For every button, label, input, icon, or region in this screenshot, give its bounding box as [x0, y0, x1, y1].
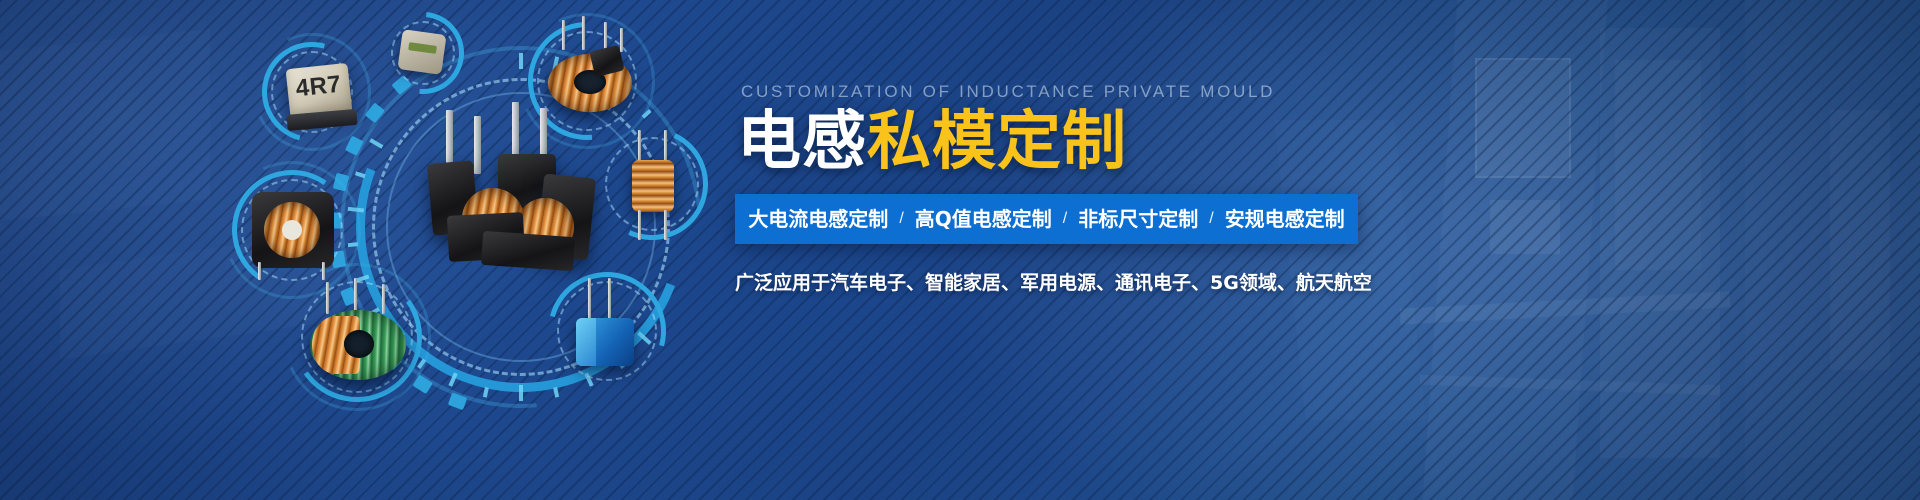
feature-item-4[interactable]: 安规电感定制 [1225, 209, 1345, 229]
promo-banner: 4R7 [0, 0, 1920, 500]
headline-accent: 私模定制 [867, 105, 1127, 179]
banner-text-block: CUSTOMIZATION OF INDUCTANCE PRIVATE MOUL… [735, 82, 1855, 316]
main-inductor-cluster [412, 110, 602, 270]
feature-item-2[interactable]: 高Q值电感定制 [915, 209, 1052, 229]
feature-bar[interactable]: 大电流电感定制 / 高Q值电感定制 / 非标尺寸定制 / 安规电感定制 [735, 194, 1358, 244]
chip-inductor-component: 4R7 [286, 63, 353, 119]
headline-primary: 电感 [737, 105, 867, 179]
solenoid-inductor [626, 130, 678, 242]
bobbin-inductor [252, 192, 334, 268]
feature-separator-1: / [888, 210, 914, 228]
blue-radial-inductor [574, 278, 638, 384]
green-toroid-inductor [310, 282, 406, 386]
application-tagline: 广泛应用于汽车电子、智能家居、军用电源、通讯电子、5G领域、航天航空 [735, 270, 1855, 297]
feature-separator-3: / [1198, 210, 1224, 228]
smd-inductor-component [397, 29, 446, 75]
chip-inductor-label: 4R7 [286, 72, 350, 102]
feature-item-1[interactable]: 大电流电感定制 [748, 209, 888, 229]
english-subtitle: CUSTOMIZATION OF INDUCTANCE PRIVATE MOUL… [741, 82, 1855, 102]
feature-item-3[interactable]: 非标尺寸定制 [1078, 209, 1198, 229]
feature-separator-2: / [1052, 210, 1078, 228]
toroid-inductor-top [548, 46, 632, 114]
page-title: 电感私模定制 [737, 110, 1855, 174]
